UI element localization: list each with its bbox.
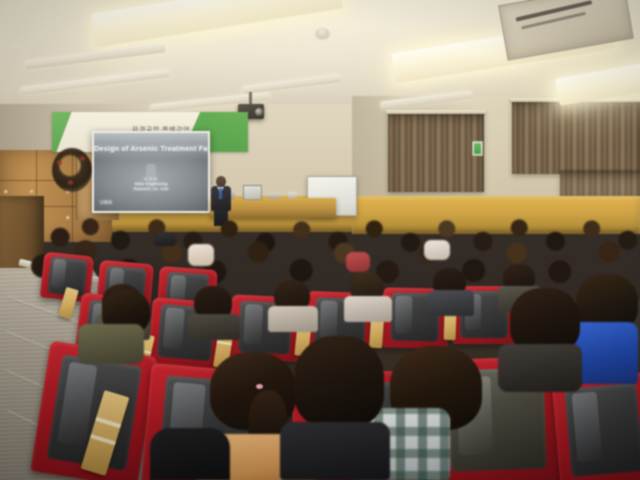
- presenter-tie: [219, 188, 222, 199]
- projection-screen: Design of Arsenic Treatment Facilities U…: [92, 131, 210, 213]
- audience-member: [268, 280, 318, 330]
- projector-lens: [255, 108, 263, 116]
- audience-cap-wearer: [154, 232, 176, 246]
- smoke-detector: [316, 28, 329, 38]
- desk-clutter-c: [288, 192, 297, 199]
- audience-red-top: [346, 252, 370, 272]
- curtain-right-window: [512, 100, 640, 174]
- wall-wreath: [52, 148, 92, 192]
- seat-tablet-arm[interactable]: [444, 314, 457, 340]
- lecture-hall-photo: 환경공학 특별강연 Design of Arsenic Treatment Fa…: [0, 0, 640, 480]
- audience-member: [188, 286, 240, 338]
- audience-white-top-b: [424, 240, 450, 260]
- audience-member: [428, 268, 474, 314]
- laptop-on-desk: [243, 185, 262, 200]
- slide-subtitle: U. S. A. Water Engineering Research, Inc…: [94, 176, 208, 191]
- curtain-rail-left: [386, 110, 486, 114]
- foreground-glasses-person: [498, 288, 584, 392]
- audience-white-top-a: [188, 244, 214, 266]
- curtain-left-window: [388, 112, 484, 192]
- audience-member: [344, 272, 392, 320]
- banner-accent-left: [52, 112, 92, 152]
- foreground-left-shoulder: [150, 428, 230, 480]
- desk-clutter-b: [268, 193, 280, 199]
- slide-title: Design of Arsenic Treatment Facilities: [94, 144, 208, 153]
- laptop-screen: [243, 185, 262, 200]
- exit-sign: [472, 141, 483, 156]
- exit-sign-glyph: [474, 143, 481, 154]
- slide-subtitle-line3: Research, Inc. USA: [94, 186, 208, 191]
- projected-slide: Design of Arsenic Treatment Facilities U…: [94, 133, 208, 211]
- hair-tie: [256, 384, 263, 389]
- curtain-right-lower: [560, 170, 640, 196]
- audience-green-jacket-person: [78, 290, 152, 362]
- foreground-dark-hair-person: [280, 336, 396, 480]
